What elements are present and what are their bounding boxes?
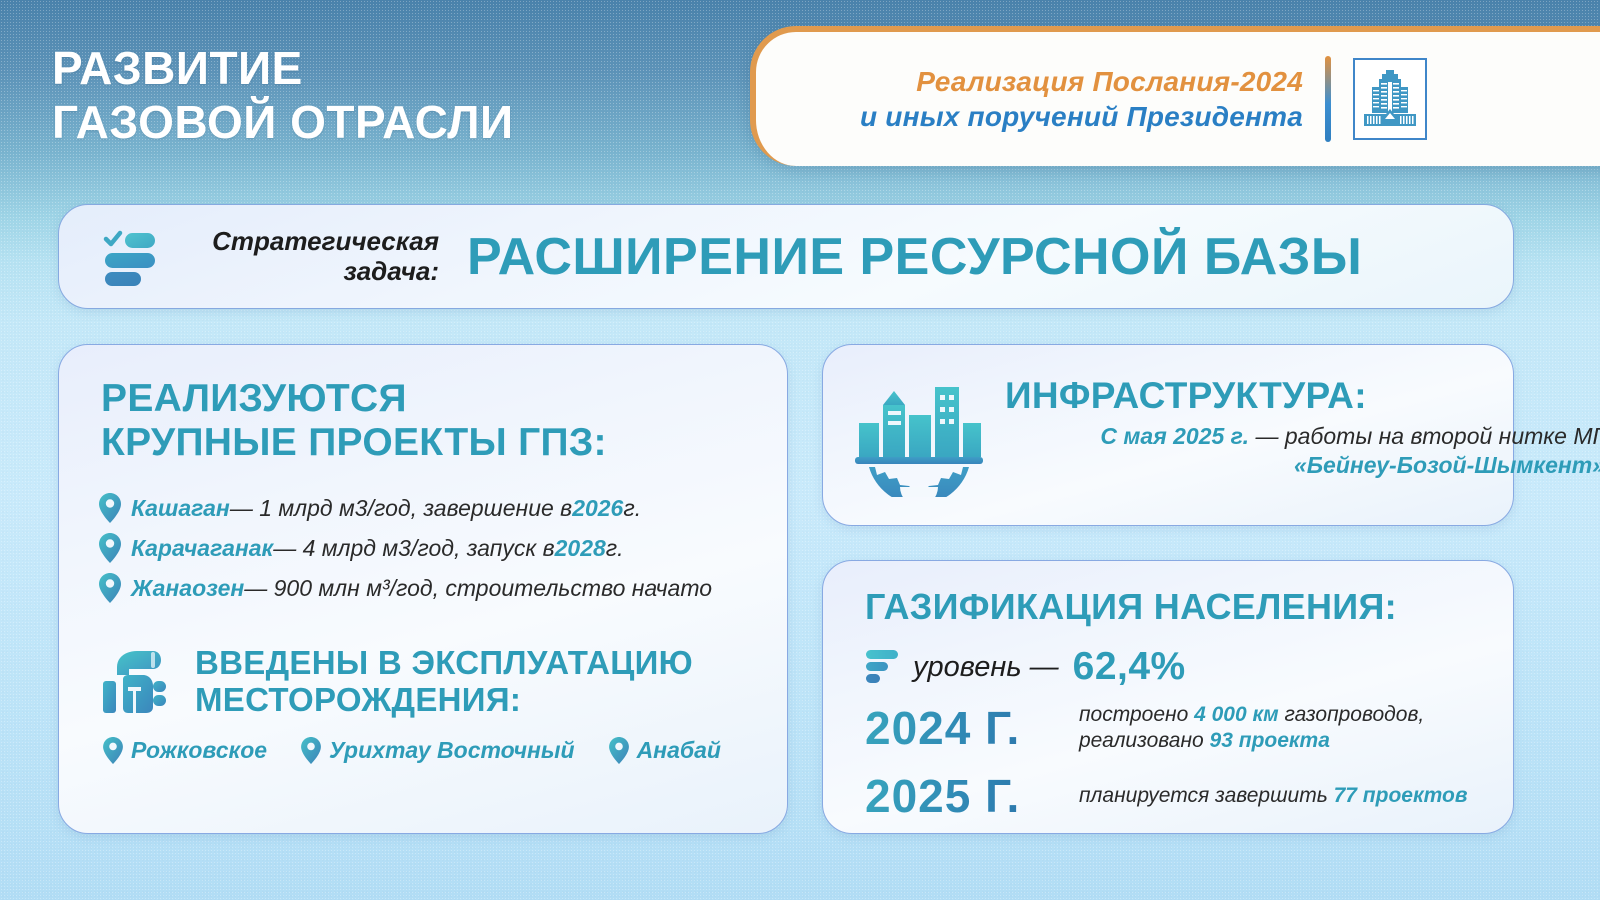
program-badge: Реализация Послания-2024 и иных поручени… xyxy=(750,26,1600,166)
gpz-heading-line2: КРУПНЫЕ ПРОЕКТЫ ГПЗ: xyxy=(101,421,607,465)
project-name: Кашаган xyxy=(131,495,230,522)
field-name: Анабай xyxy=(637,737,721,764)
note-highlight-2: 93 проекта xyxy=(1210,729,1330,752)
gasification-year: 2024 Г. xyxy=(865,701,1061,755)
infrastructure-card: ИНФРАСТРУКТУРА: С мая 2025 г. — работы н… xyxy=(822,344,1514,526)
badge-divider xyxy=(1325,56,1331,142)
page-title-line2: ГАЗОВОЙ ОТРАСЛИ xyxy=(52,96,514,150)
project-detail: — 900 млн м³/год, строительство начато xyxy=(244,575,712,602)
map-pin-icon xyxy=(99,493,121,523)
commissioned-fields-block: ВВЕДЕНЫ В ЭКСПЛУАТАЦИЮ МЕСТОРОЖДЕНИЯ: Ро… xyxy=(99,645,759,764)
list-item: Жанаозен — 900 млн м³/год, строительство… xyxy=(99,573,712,603)
project-detail-tail: г. xyxy=(606,535,624,562)
gpz-card-heading: РЕАЛИЗУЮТСЯ КРУПНЫЕ ПРОЕКТЫ ГПЗ: xyxy=(101,377,607,464)
page-title: РАЗВИТИЕ ГАЗОВОЙ ОТРАСЛИ xyxy=(52,42,514,150)
checklist-bars-icon xyxy=(99,226,161,288)
note-pre: планируется завершить xyxy=(1079,784,1334,807)
fields-heading-line1: ВВЕДЕНЫ В ЭКСПЛУАТАЦИЮ xyxy=(195,645,693,682)
gas-extraction-icon xyxy=(99,645,173,719)
map-pin-icon xyxy=(103,737,123,764)
infrastructure-description: С мая 2025 г. — работы на второй нитке М… xyxy=(1005,422,1600,480)
project-name: Жанаозен xyxy=(131,575,244,602)
gasification-title: ГАЗИФИКАЦИЯ НАСЕЛЕНИЯ: xyxy=(865,587,1397,627)
project-detail: — 4 млрд м3/год, запуск в xyxy=(273,535,554,562)
project-name: Карачаганак xyxy=(131,535,273,562)
pipeline-name: «Бейнеу-Бозой-Шымкент» xyxy=(1294,452,1600,478)
gpz-projects-card: РЕАЛИЗУЮТСЯ КРУПНЫЕ ПРОЕКТЫ ГПЗ: Кашаган… xyxy=(58,344,788,834)
field-name: Урихтау Восточный xyxy=(329,737,575,764)
table-row: 2025 Г. планируется завершить 77 проекто… xyxy=(865,769,1499,823)
project-year: 2028 xyxy=(555,535,606,562)
list-item: Карачаганак — 4 млрд м3/год, запуск в 20… xyxy=(99,533,712,563)
table-row: 2024 Г. построено 4 000 км газопроводов,… xyxy=(865,701,1499,755)
gasification-note: построено 4 000 км газопроводов, реализо… xyxy=(1079,702,1499,754)
gasification-note: планируется завершить 77 проектов xyxy=(1079,783,1499,809)
infrastructure-desc-mid: — работы на второй нитке МГ xyxy=(1249,423,1600,449)
map-pin-icon xyxy=(301,737,321,764)
map-pin-icon xyxy=(99,573,121,603)
header: РАЗВИТИЕ ГАЗОВОЙ ОТРАСЛИ Реализация Посл… xyxy=(0,0,1600,190)
strategic-task-banner: Стратегическая задача: РАСШИРЕНИЕ РЕСУРС… xyxy=(58,204,1514,309)
infrastructure-title: ИНФРАСТРУКТУРА: xyxy=(1005,375,1600,416)
government-building-emblem-icon xyxy=(1353,58,1427,140)
gpz-heading-line1: РЕАЛИЗУЮТСЯ xyxy=(101,377,607,421)
gasification-level-row: уровень — 62,4% xyxy=(865,645,1186,689)
note-pre: построено xyxy=(1079,703,1194,726)
gasification-level-label: уровень — xyxy=(913,651,1059,684)
gasification-year: 2025 Г. xyxy=(865,769,1061,823)
fields-heading-line2: МЕСТОРОЖДЕНИЯ: xyxy=(195,682,693,719)
project-detail-tail: г. xyxy=(623,495,641,522)
gasification-card: ГАЗИФИКАЦИЯ НАСЕЛЕНИЯ: xyxy=(822,560,1514,834)
bar-level-icon xyxy=(865,648,899,686)
page-title-line1: РАЗВИТИЕ xyxy=(52,42,303,94)
commissioned-fields-list: Рожковское Урихтау Восточный xyxy=(103,737,759,764)
list-item: Кашаган — 1 млрд м3/год, завершение в 20… xyxy=(99,493,712,523)
field-name: Рожковское xyxy=(131,737,267,764)
note-highlight-1: 77 проектов xyxy=(1334,784,1468,807)
program-badge-line2: и иных поручений Президента xyxy=(860,101,1303,133)
strategic-task-label: Стратегическая задача: xyxy=(189,227,439,287)
map-pin-icon xyxy=(609,737,629,764)
program-badge-text: Реализация Послания-2024 и иных поручени… xyxy=(860,66,1303,133)
list-item: Рожковское xyxy=(103,737,267,764)
program-badge-line1: Реализация Послания-2024 xyxy=(860,66,1303,98)
map-pin-icon xyxy=(99,533,121,563)
infrastructure-date: С мая 2025 г. xyxy=(1100,423,1249,449)
list-item: Урихтау Восточный xyxy=(301,737,575,764)
project-year: 2026 xyxy=(572,495,623,522)
infographic-root: РАЗВИТИЕ ГАЗОВОЙ ОТРАСЛИ Реализация Посл… xyxy=(0,0,1600,900)
project-detail: — 1 млрд м3/год, завершение в xyxy=(230,495,572,522)
gasification-level-value: 62,4% xyxy=(1073,645,1186,689)
note-highlight-1: 4 000 км xyxy=(1194,703,1279,726)
city-skyline-gear-icon xyxy=(853,371,985,497)
gpz-projects-list: Кашаган — 1 млрд м3/год, завершение в 20… xyxy=(99,493,712,613)
strategic-task-value: РАСШИРЕНИЕ РЕСУРСНОЙ БАЗЫ xyxy=(467,227,1362,287)
list-item: Анабай xyxy=(609,737,721,764)
